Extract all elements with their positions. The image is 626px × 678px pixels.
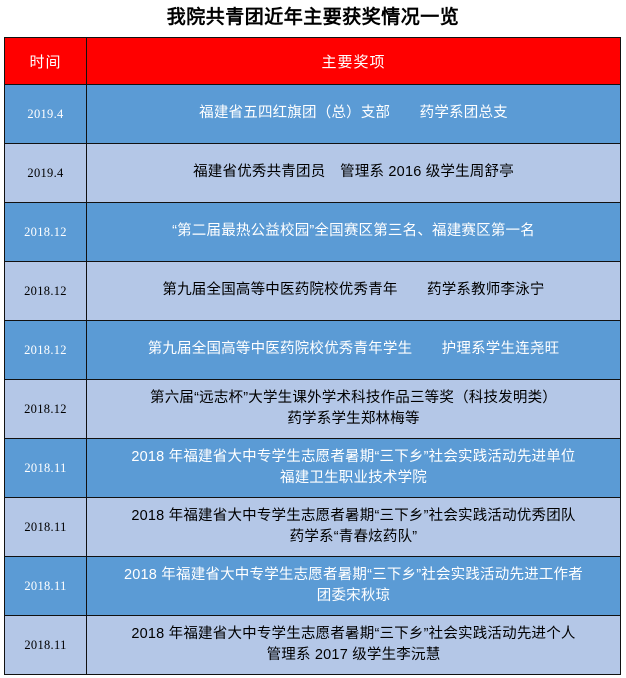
table-row: 2018.12“第二届最热公益校园”全国赛区第三名、福建赛区第一名 [5, 203, 621, 262]
table-row: 2019.4福建省优秀共青团员 管理系 2016 级学生周舒亭 [5, 144, 621, 203]
cell-award: 福建省五四红旗团（总）支部 药学系团总支 [87, 85, 621, 144]
award-line-secondary: 福建卫生职业技术学院 [87, 468, 620, 489]
cell-time: 2018.12 [5, 321, 87, 380]
award-line-secondary: 管理系 2017 级学生李沅慧 [87, 645, 620, 666]
cell-time: 2018.11 [5, 439, 87, 498]
cell-time: 2019.4 [5, 85, 87, 144]
cell-time: 2018.12 [5, 203, 87, 262]
cell-award: 2018 年福建省大中专学生志愿者暑期“三下乡”社会实践活动先进个人管理系 20… [87, 616, 621, 675]
page-root: 我院共青团近年主要获奖情况一览 时间 主要奖项 2019.4福建省五四红旗团（总… [0, 0, 626, 678]
table-row: 2018.112018 年福建省大中专学生志愿者暑期“三下乡”社会实践活动先进工… [5, 557, 621, 616]
award-line-primary: 2018 年福建省大中专学生志愿者暑期“三下乡”社会实践活动优秀团队 [87, 506, 620, 527]
cell-award: 第九届全国高等中医药院校优秀青年 药学系教师李泳宁 [87, 262, 621, 321]
awards-table: 时间 主要奖项 2019.4福建省五四红旗团（总）支部 药学系团总支2019.4… [4, 37, 621, 675]
table-row: 2018.112018 年福建省大中专学生志愿者暑期“三下乡”社会实践活动优秀团… [5, 498, 621, 557]
award-line-primary: 2018 年福建省大中专学生志愿者暑期“三下乡”社会实践活动先进工作者 [87, 565, 620, 586]
table-row: 2018.112018 年福建省大中专学生志愿者暑期“三下乡”社会实践活动先进单… [5, 439, 621, 498]
table-body: 2019.4福建省五四红旗团（总）支部 药学系团总支2019.4福建省优秀共青团… [5, 85, 621, 675]
cell-time: 2019.4 [5, 144, 87, 203]
table-row: 2018.112018 年福建省大中专学生志愿者暑期“三下乡”社会实践活动先进个… [5, 616, 621, 675]
award-line-secondary: 药学系“青春炫药队” [87, 527, 620, 548]
award-line-primary: 第六届“远志杯”大学生课外学术科技作品三等奖（科技发明类） [87, 388, 620, 409]
cell-time: 2018.11 [5, 616, 87, 675]
column-header-time: 时间 [5, 38, 87, 85]
award-line-secondary: 团委宋秋琼 [87, 586, 620, 607]
table-row: 2018.12第九届全国高等中医药院校优秀青年 药学系教师李泳宁 [5, 262, 621, 321]
table-row: 2019.4福建省五四红旗团（总）支部 药学系团总支 [5, 85, 621, 144]
award-line-secondary: 药学系学生郑林梅等 [87, 409, 620, 430]
cell-award: 第九届全国高等中医药院校优秀青年学生 护理系学生连尧旺 [87, 321, 621, 380]
cell-award: 福建省优秀共青团员 管理系 2016 级学生周舒亭 [87, 144, 621, 203]
table-row: 2018.12第九届全国高等中医药院校优秀青年学生 护理系学生连尧旺 [5, 321, 621, 380]
cell-time: 2018.11 [5, 498, 87, 557]
cell-award: 2018 年福建省大中专学生志愿者暑期“三下乡”社会实践活动优秀团队药学系“青春… [87, 498, 621, 557]
page-title: 我院共青团近年主要获奖情况一览 [0, 0, 626, 36]
table-row: 2018.12第六届“远志杯”大学生课外学术科技作品三等奖（科技发明类）药学系学… [5, 380, 621, 439]
cell-award: “第二届最热公益校园”全国赛区第三名、福建赛区第一名 [87, 203, 621, 262]
cell-time: 2018.11 [5, 557, 87, 616]
award-line-primary: “第二届最热公益校园”全国赛区第三名、福建赛区第一名 [87, 221, 620, 242]
cell-award: 2018 年福建省大中专学生志愿者暑期“三下乡”社会实践活动先进工作者团委宋秋琼 [87, 557, 621, 616]
award-line-primary: 福建省优秀共青团员 管理系 2016 级学生周舒亭 [87, 162, 620, 183]
award-line-primary: 第九届全国高等中医药院校优秀青年学生 护理系学生连尧旺 [87, 339, 620, 360]
award-line-primary: 2018 年福建省大中专学生志愿者暑期“三下乡”社会实践活动先进个人 [87, 624, 620, 645]
table-header-row: 时间 主要奖项 [5, 38, 621, 85]
cell-award: 第六届“远志杯”大学生课外学术科技作品三等奖（科技发明类）药学系学生郑林梅等 [87, 380, 621, 439]
table-header: 时间 主要奖项 [5, 38, 621, 85]
column-header-award: 主要奖项 [87, 38, 621, 85]
award-line-primary: 第九届全国高等中医药院校优秀青年 药学系教师李泳宁 [87, 280, 620, 301]
cell-award: 2018 年福建省大中专学生志愿者暑期“三下乡”社会实践活动先进单位福建卫生职业… [87, 439, 621, 498]
cell-time: 2018.12 [5, 380, 87, 439]
award-line-primary: 2018 年福建省大中专学生志愿者暑期“三下乡”社会实践活动先进单位 [87, 447, 620, 468]
cell-time: 2018.12 [5, 262, 87, 321]
award-line-primary: 福建省五四红旗团（总）支部 药学系团总支 [87, 103, 620, 124]
